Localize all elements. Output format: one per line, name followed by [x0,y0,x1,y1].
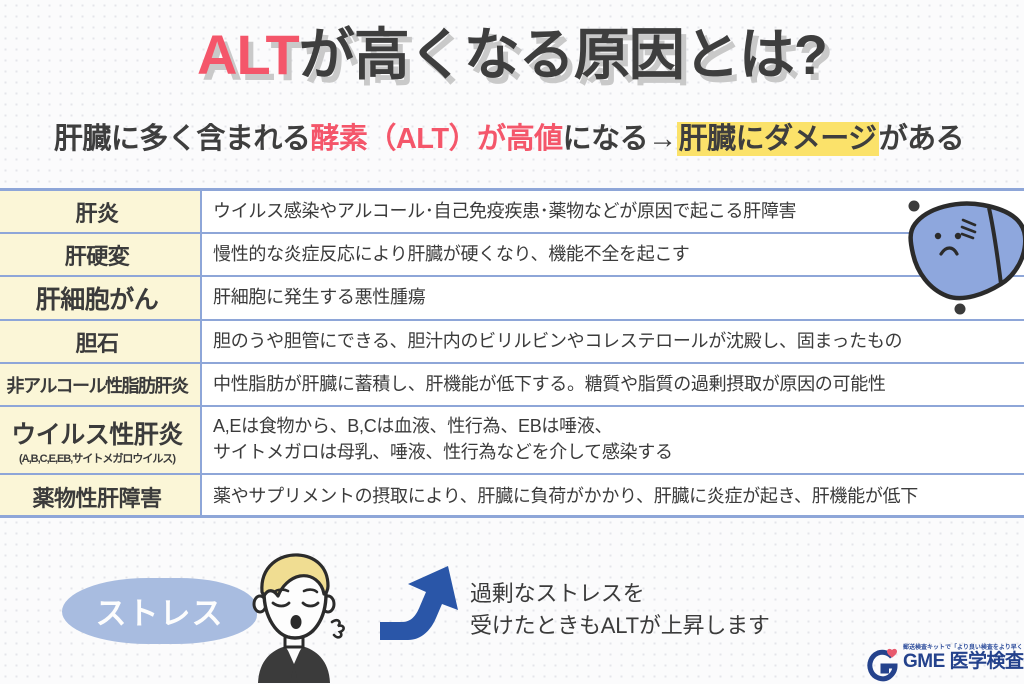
stress-note-line-1: 過剰なストレスを [470,578,900,610]
table-row-desc-line: サイトメガロは母乳、唾液、性行為などを介して感染する [213,440,1024,466]
gme-logo-text: 郵送検査キットで「より良い検査をより早く GME 医学検査研究所 [903,644,1024,673]
table-row: 薬物性肝障害 薬やサプリメントの摂取により、肝臓に負荷がかかり、肝臓に炎症が起き… [0,475,1024,518]
causes-table: 肝炎 ウイルス感染やアルコール･自己免疫疾患･薬物などが原因で起こる肝障害 肝硬… [0,188,1024,518]
table-row: 肝硬変 慢性的な炎症反応により肝臓が硬くなり、機能不全を起こす [0,234,1024,277]
table-row-desc-line: A,Eは食物から、B,Cは血液、性行為、EBは唾液、 [213,414,1024,440]
subtitle-enzyme-phrase: 酵素（ALT）が高値 [310,123,562,155]
table-row-desc-line: 中性脂肪が肝臓に蓄積し、肝機能が低下する。糖質や脂質の過剰摂取が原因の可能性 [213,372,1024,398]
table-row-name-cell: 肝細胞がん [0,277,202,319]
table-row-name-cell: ウイルス性肝炎 (A,B,C,E,EB,サイトメガロウイルス) [0,407,202,473]
stressed-person-icon [228,552,360,683]
table-row-name-cell: 非アルコール性脂肪肝炎 [0,364,202,405]
table-row-desc-cell: 中性脂肪が肝臓に蓄積し、肝機能が低下する。糖質や脂質の過剰摂取が原因の可能性 [202,364,1024,405]
table-row: 肝細胞がん 肝細胞に発生する悪性腫瘍 [0,277,1024,321]
table-row-desc-cell: 肝細胞に発生する悪性腫瘍 [202,277,1024,319]
table-row-name-cell: 薬物性肝障害 [0,475,202,518]
table-row: 肝炎 ウイルス感染やアルコール･自己免疫疾患･薬物などが原因で起こる肝障害 [0,191,1024,234]
table-row: 非アルコール性脂肪肝炎 中性脂肪が肝臓に蓄積し、肝機能が低下する。糖質や脂質の過… [0,364,1024,407]
table-row: 胆石 胆のうや胆管にできる、胆汁内のビリルビンやコレステロールが沈殿し、固まった… [0,321,1024,364]
subtitle-marked-phrase: 肝臓にダメージ [677,122,879,156]
subtitle-mid: になる→ [563,123,677,155]
gme-logo-mark-icon [866,648,900,682]
table-row-desc-line: 薬やサプリメントの摂取により、肝臓に負荷がかかり、肝臓に炎症が起き、肝機能が低下 [213,484,1024,510]
table-row-desc-line: 胆のうや胆管にできる、胆汁内のビリルビンやコレステロールが沈殿し、固まったもの [213,329,1024,355]
page-title-highlight: ALT [197,23,299,86]
page-title-rest: が高くなる原因とは? [299,23,827,86]
stress-note: 過剰なストレスを 受けたときもALTが上昇します [470,578,900,642]
table-row-name: 肝細胞がん [36,280,159,316]
subtitle-lead: 肝臓に多く含まれる [54,123,311,155]
table-row-name-cell: 胆石 [0,321,202,362]
table-row: ウイルス性肝炎 (A,B,C,E,EB,サイトメガロウイルス) A,Eは食物から… [0,407,1024,475]
gme-logo: 郵送検査キットで「より良い検査をより早く GME 医学検査研究所 [866,644,1024,684]
table-row-name: 胆石 [75,326,118,358]
page-title: ALTが高くなる原因とは? [0,4,1024,96]
table-row-name-cell: 肝硬変 [0,234,202,275]
table-row-desc-line: ウイルス感染やアルコール･自己免疫疾患･薬物などが原因で起こる肝障害 [213,199,1024,225]
table-row-name: 肝硬変 [65,239,130,271]
table-row-desc-cell: 胆のうや胆管にできる、胆汁内のビリルビンやコレステロールが沈殿し、固まったもの [202,321,1024,362]
stress-bubble-label: ストレス [96,588,224,633]
gme-logo-name: GME 医学検査研究所 [903,652,1024,673]
page-title-text: ALTが高くなる原因とは? [197,10,827,91]
table-row-desc-cell: 慢性的な炎症反応により肝臓が硬くなり、機能不全を起こす [202,234,1024,275]
table-row-desc-cell: 薬やサプリメントの摂取により、肝臓に負荷がかかり、肝臓に炎症が起き、肝機能が低下 [202,475,1024,518]
table-row-desc-cell: ウイルス感染やアルコール･自己免疫疾患･薬物などが原因で起こる肝障害 [202,191,1024,232]
table-row-name: 薬物性肝障害 [32,481,161,513]
table-row-desc-line: 慢性的な炎症反応により肝臓が硬くなり、機能不全を起こす [213,242,1024,268]
table-row-desc-cell: A,Eは食物から、B,Cは血液、性行為、EBは唾液、 サイトメガロは母乳、唾液、… [202,407,1024,473]
table-row-name: 非アルコール性脂肪肝炎 [7,372,188,398]
table-row-name: 肝炎 [75,196,118,228]
up-arrow-icon [378,560,470,642]
subtitle: 肝臓に多く含まれる酵素（ALT）が高値になる→肝臓にダメージがある [0,108,1024,164]
table-row-name-subtext: (A,B,C,E,EB,サイトメガロウイルス) [19,450,175,466]
table-row-desc-line: 肝細胞に発生する悪性腫瘍 [213,285,1024,311]
table-row-name-cell: 肝炎 [0,191,202,232]
table-row-name: ウイルス性肝炎 [11,415,183,451]
subtitle-tail: がある [879,123,965,155]
subtitle-text: 肝臓に多く含まれる酵素（ALT）が高値になる→肝臓にダメージがある [54,115,964,157]
stress-note-line-2: 受けたときもALTが上昇します [470,610,900,642]
